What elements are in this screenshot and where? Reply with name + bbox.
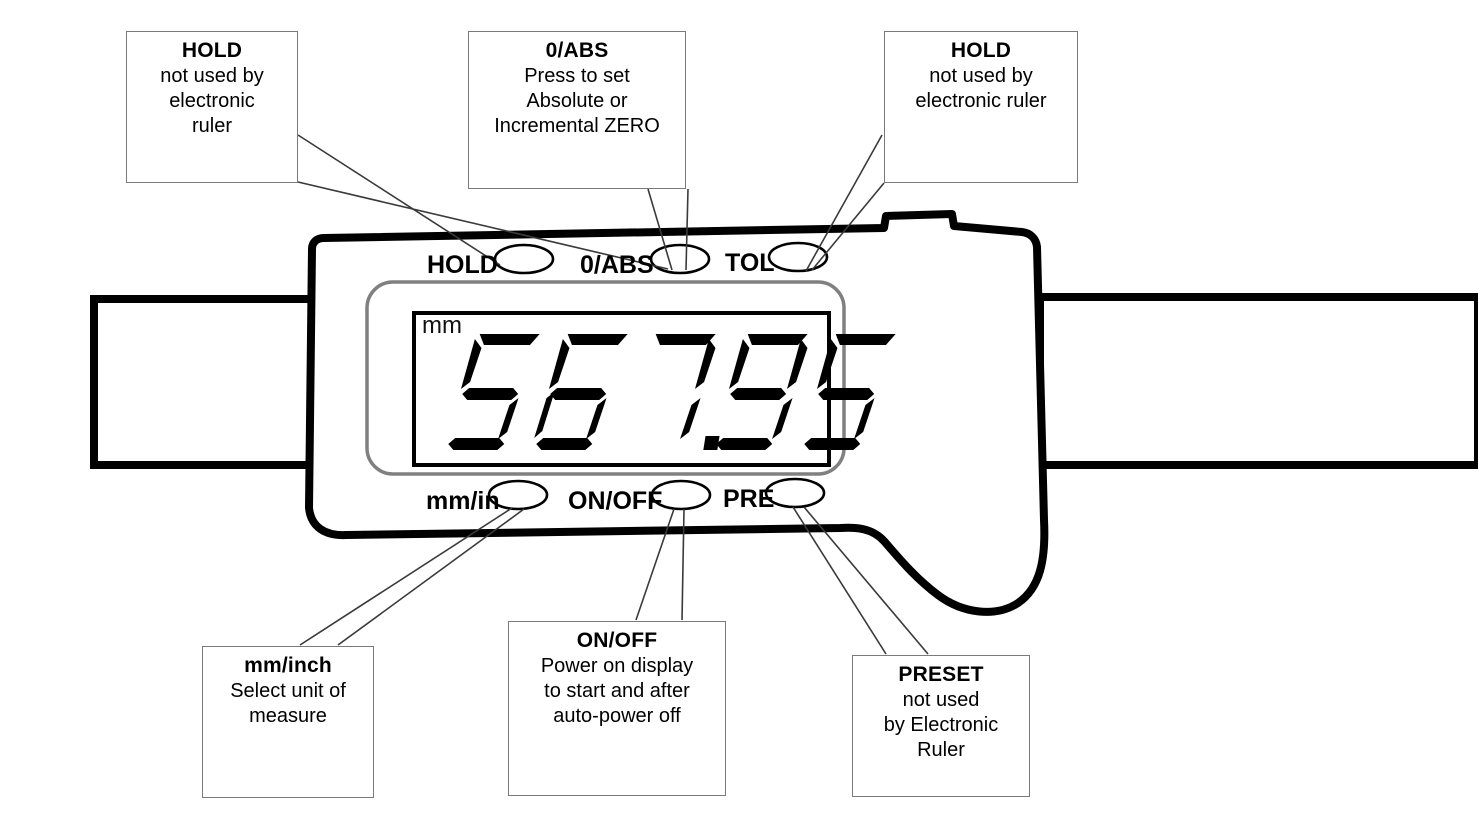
callout-on-off-line-1: Power on display (509, 654, 725, 679)
callout-on-off: ON/OFF Power on display to start and aft… (508, 621, 726, 796)
callout-zero-abs: 0/ABS Press to set Absolute or Increment… (468, 31, 686, 189)
lcd-unit-label: mm (422, 314, 462, 338)
diagram-canvas: mm HOLD 0/ABS TOL mm/in ON/OFF PRE HOLD … (0, 0, 1478, 825)
callout-hold-left-line-3: ruler (127, 114, 297, 139)
right-beam (1040, 297, 1478, 465)
callout-mm-inch-line-2: measure (203, 704, 373, 729)
hold-button[interactable] (495, 245, 553, 273)
callout-hold-left: HOLD not used by electronic ruler (126, 31, 298, 183)
pre-button[interactable] (766, 479, 824, 507)
callout-hold-left-line-1: not used by (127, 64, 297, 89)
callout-on-off-title: ON/OFF (509, 628, 725, 654)
tol-button[interactable] (769, 243, 827, 271)
lcd-decimal-point (703, 436, 719, 450)
callout-hold-right: HOLD not used by electronic ruler (884, 31, 1078, 183)
callout-zero-abs-line-1: Press to set (469, 64, 685, 89)
callout-on-off-line-2: to start and after (509, 679, 725, 704)
callout-hold-right-line-2: electronic ruler (885, 89, 1077, 114)
callout-mm-inch-line-1: Select unit of (203, 679, 373, 704)
callout-on-off-line-3: auto-power off (509, 704, 725, 729)
mm-in-button-label: mm/in (426, 489, 500, 514)
callout-preset-line-3: Ruler (853, 738, 1029, 763)
on-off-button-label: ON/OFF (568, 489, 662, 514)
callout-mm-inch: mm/inch Select unit of measure (202, 646, 374, 798)
callout-hold-right-title: HOLD (885, 38, 1077, 64)
callout-zero-abs-line-3: Incremental ZERO (469, 114, 685, 139)
callout-preset-line-2: by Electronic (853, 713, 1029, 738)
callout-hold-left-line-2: electronic (127, 89, 297, 114)
hold-button-label: HOLD (427, 253, 498, 278)
callout-hold-left-title: HOLD (127, 38, 297, 64)
callout-preset: PRESET not used by Electronic Ruler (852, 655, 1030, 797)
callout-zero-abs-line-2: Absolute or (469, 89, 685, 114)
callout-mm-inch-title: mm/inch (203, 653, 373, 679)
callout-hold-right-line-1: not used by (885, 64, 1077, 89)
pre-button-label: PRE (723, 487, 774, 512)
callout-zero-abs-title: 0/ABS (469, 38, 685, 64)
zero-abs-button[interactable] (651, 245, 709, 273)
tol-button-label: TOL (725, 251, 775, 276)
callout-preset-line-1: not used (853, 688, 1029, 713)
callout-preset-title: PRESET (853, 662, 1029, 688)
zero-abs-button-label: 0/ABS (580, 253, 654, 278)
